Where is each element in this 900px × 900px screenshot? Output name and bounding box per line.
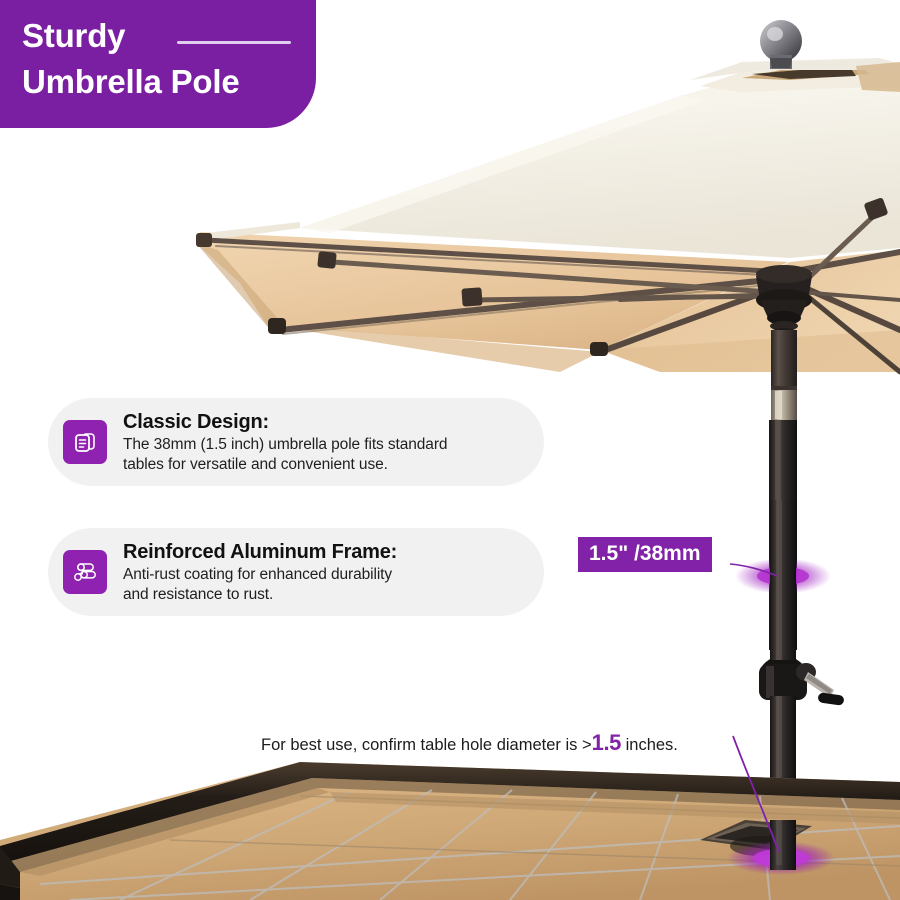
feature-body-line2: and resistance to rust. <box>123 585 397 605</box>
aluminum-tubes-icon <box>63 550 107 594</box>
feature-card-text: Reinforced Aluminum Frame: Anti-rust coa… <box>123 540 397 605</box>
table-hole-note: For best use, confirm table hole diamete… <box>261 732 678 756</box>
feature-body: The 38mm (1.5 inch) umbrella pole fits s… <box>123 435 447 475</box>
banner-title-line1: Sturdy <box>22 16 125 56</box>
feature-card-text: Classic Design: The 38mm (1.5 inch) umbr… <box>123 410 447 475</box>
banner-title-line2: Umbrella Pole <box>22 62 239 102</box>
feature-body: Anti-rust coating for enhanced durabilit… <box>123 565 397 605</box>
callout-label: 1.5" /38mm <box>589 542 701 566</box>
patio-table <box>0 762 900 900</box>
feature-title: Classic Design: <box>123 410 447 435</box>
pole-diameter-callout: 1.5" /38mm <box>578 537 712 572</box>
feature-card-classic-design: Classic Design: The 38mm (1.5 inch) umbr… <box>48 398 544 486</box>
infographic-canvas: Sturdy Umbrella Pole Classic Design: The… <box>0 0 900 900</box>
header-banner: Sturdy Umbrella Pole <box>0 0 316 128</box>
feature-body-line2: tables for versatile and convenient use. <box>123 455 447 475</box>
feature-body-line1: Anti-rust coating for enhanced durabilit… <box>123 565 397 585</box>
document-stack-icon <box>63 420 107 464</box>
note-suffix: inches. <box>621 736 678 754</box>
note-highlight-value: 1.5 <box>592 730 621 755</box>
feature-card-aluminum-frame: Reinforced Aluminum Frame: Anti-rust coa… <box>48 528 544 616</box>
feature-title: Reinforced Aluminum Frame: <box>123 540 397 565</box>
feature-body-line1: The 38mm (1.5 inch) umbrella pole fits s… <box>123 435 447 455</box>
note-prefix: For best use, confirm table hole diamete… <box>261 736 592 754</box>
banner-divider-rule <box>177 41 291 44</box>
